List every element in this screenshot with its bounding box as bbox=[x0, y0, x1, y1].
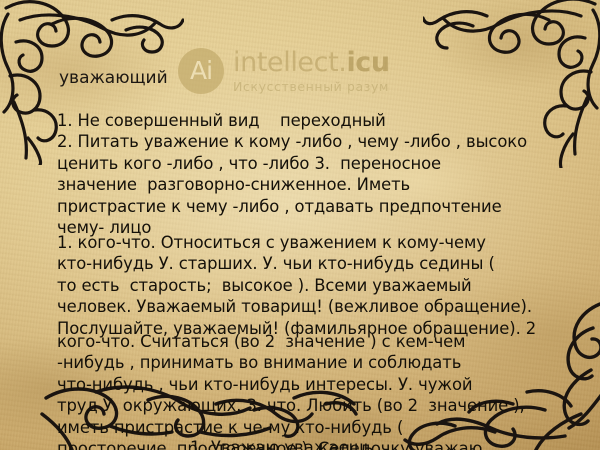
watermark-title: intellect.icu bbox=[233, 49, 390, 76]
definition-line: кого-что. Считаться (во 2 значение ) с к… bbox=[57, 331, 577, 352]
definition-block-grammar: 1. Не совершенный вид переходный 2. Пита… bbox=[57, 110, 577, 238]
definition-line: 1. кого-что. Относиться с уважением к ко… bbox=[57, 232, 577, 253]
definition-line-clipped: 1. Уважаю уважаешь bbox=[190, 437, 373, 450]
headword: уважающий bbox=[59, 68, 168, 88]
definition-line: -нибудь , принимать во внимание и соблюд… bbox=[57, 352, 577, 373]
watermark-badge-icon: Ai bbox=[178, 48, 224, 94]
definition-line: кто-нибудь У. старших. У. чьи кто-нибудь… bbox=[57, 253, 577, 274]
definition-line: иметь пристрастие к че-му кто-нибудь ( bbox=[57, 417, 577, 438]
definition-block-sense-one: 1. кого-что. Относиться с уважением к ко… bbox=[57, 232, 577, 339]
definition-line: то есть старость; высокое ). Всеми уважа… bbox=[57, 275, 577, 296]
definition-line: ценить кого -либо , что -либо 3. перенос… bbox=[57, 153, 577, 174]
definition-line: значение разговорно-сниженное. Иметь bbox=[57, 174, 577, 195]
watermark-subtitle: Искусственный разум bbox=[233, 81, 390, 94]
watermark-words: intellect.icu Искусственный разум bbox=[233, 49, 390, 94]
slide-canvas: Ai intellect.icu Искусственный разум ува… bbox=[0, 0, 600, 450]
definition-line: человек. Уважаемый товарищ! (вежливое об… bbox=[57, 296, 577, 317]
watermark-intellect-icu: Ai intellect.icu Искусственный разум bbox=[178, 48, 390, 94]
definition-line: что-нибудь , чьи кто-нибудь интересы. У.… bbox=[57, 374, 577, 395]
definition-line: пристрастие к чему -либо , отдавать пред… bbox=[57, 196, 577, 217]
watermark-badge-label: Ai bbox=[190, 58, 212, 85]
definition-line: 1. Не совершенный вид переходный bbox=[57, 110, 577, 131]
definition-line: труд У. окружающих. 3. что. Любить (во 2… bbox=[57, 395, 577, 416]
definition-block-sense-two: кого-что. Считаться (во 2 значение ) с к… bbox=[57, 331, 577, 450]
watermark-title-main: intellect. bbox=[233, 47, 346, 78]
definition-line: 2. Питать уважение к кому -либо , чему -… bbox=[57, 131, 577, 152]
watermark-title-strong: icu bbox=[346, 47, 389, 78]
